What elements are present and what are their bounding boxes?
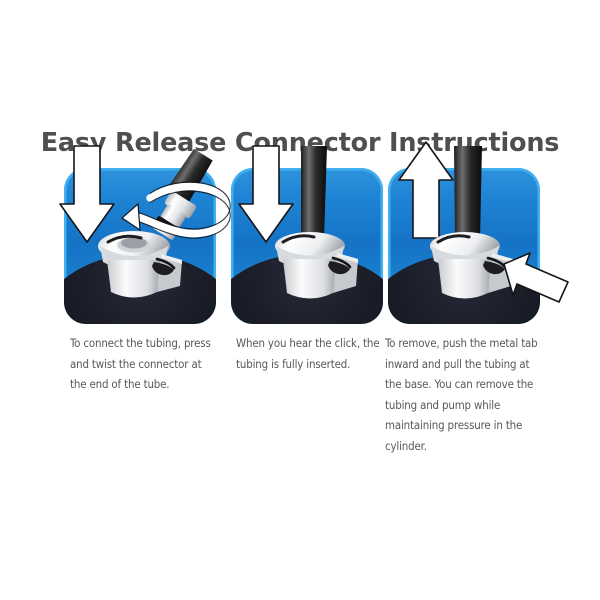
page-title: Easy Release Connector Instructions xyxy=(0,128,600,158)
ground-shadow xyxy=(231,254,383,324)
panel-connect xyxy=(64,168,216,324)
caption-step-3: To remove, push the metal tab inward and… xyxy=(385,333,545,457)
ground-shadow xyxy=(64,254,216,324)
panel-remove xyxy=(388,168,540,324)
caption-row: To connect the tubing, press and twist t… xyxy=(0,333,600,463)
illustration-row xyxy=(0,168,600,324)
caption-step-2: When you hear the click, the tubing is f… xyxy=(236,333,386,374)
panel-background xyxy=(64,168,216,324)
panel-background xyxy=(231,168,383,324)
ground-shadow xyxy=(388,254,540,324)
instruction-sheet: Easy Release Connector Instructions xyxy=(0,0,600,600)
panel-background xyxy=(388,168,540,324)
panel-inserted xyxy=(231,168,383,324)
caption-step-1: To connect the tubing, press and twist t… xyxy=(70,333,220,395)
